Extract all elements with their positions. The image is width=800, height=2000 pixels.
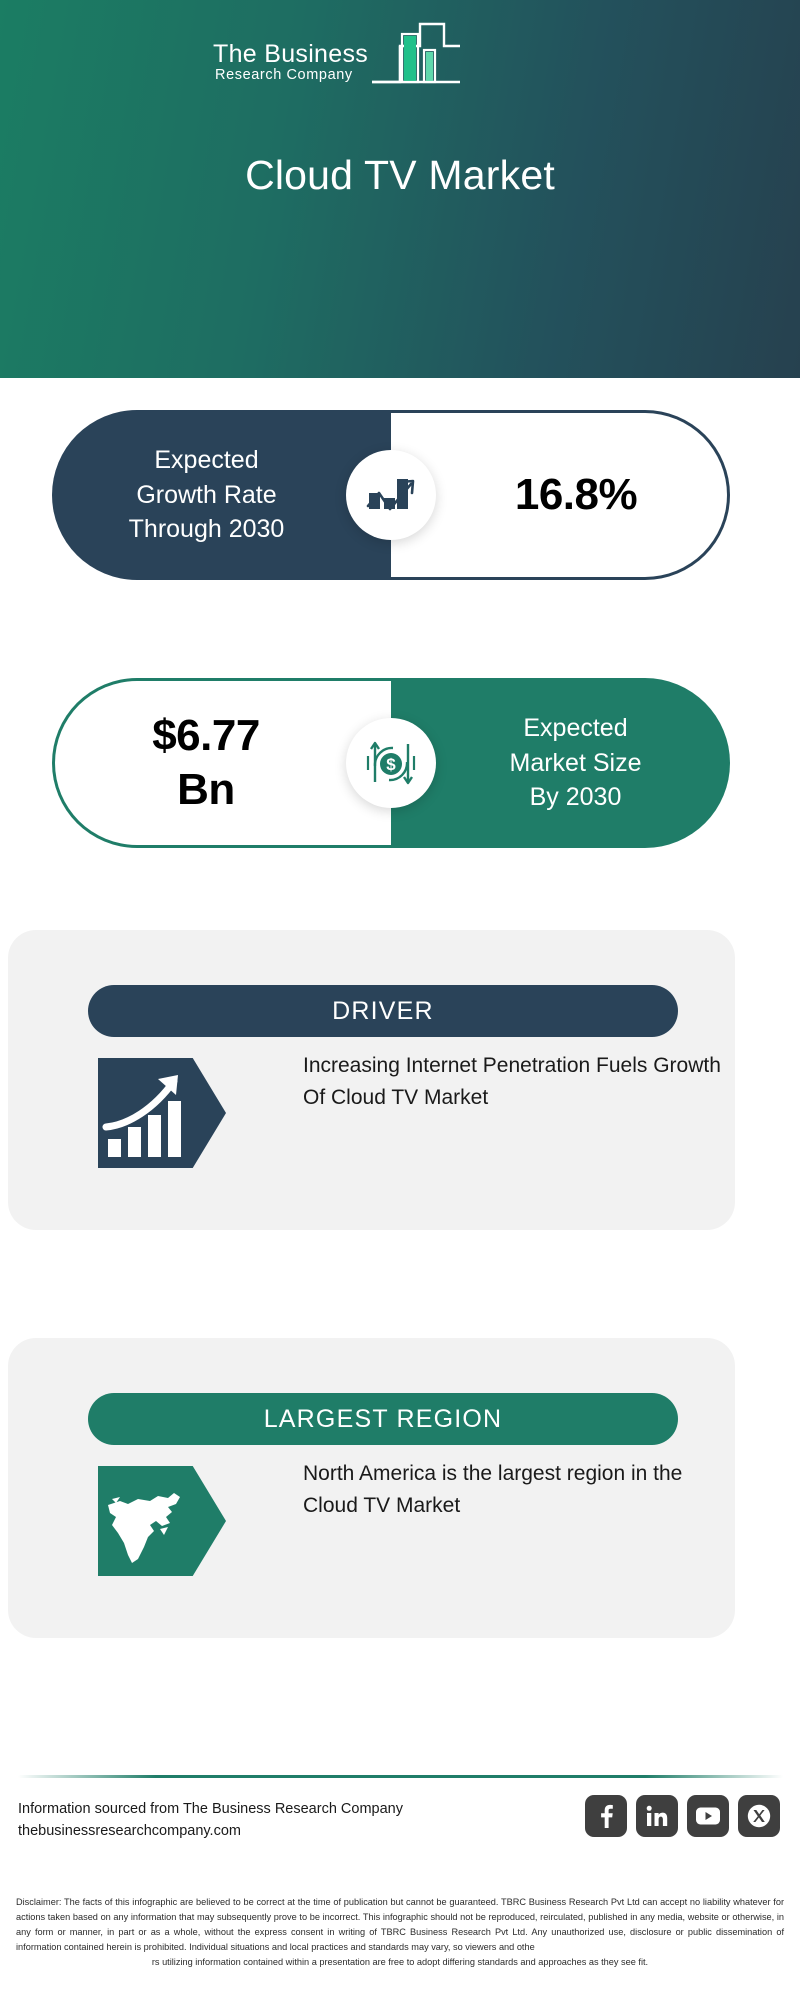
- size-label-line-2: Market Size: [466, 746, 686, 781]
- facebook-icon[interactable]: [585, 1795, 627, 1837]
- social-links: [585, 1795, 780, 1837]
- footer-divider: [18, 1775, 783, 1778]
- size-label-line-1: Expected: [466, 711, 686, 746]
- source-attribution: Information sourced from The Business Re…: [18, 1798, 403, 1843]
- largest-region-heading: LARGEST REGION: [88, 1393, 678, 1445]
- size-label: Expected Market Size By 2030: [436, 711, 686, 815]
- driver-body-text: Increasing Internet Penetration Fuels Gr…: [303, 1050, 723, 1114]
- growth-label-line-1: Expected: [97, 443, 317, 478]
- growth-value-panel: 16.8%: [391, 410, 730, 580]
- north-america-map-icon: [98, 1466, 226, 1576]
- x-twitter-icon[interactable]: [738, 1795, 780, 1837]
- logo-line-1: The Business: [213, 41, 368, 67]
- size-label-panel: Expected Market Size By 2030: [391, 678, 730, 848]
- growth-value: 16.8%: [481, 468, 637, 522]
- stat-card-growth-rate: Expected Growth Rate Through 2030 16.8%: [52, 410, 730, 580]
- dollar-cycle-icon: $: [346, 718, 436, 808]
- rising-bar-chart-icon: [98, 1058, 226, 1168]
- panel-largest-region: LARGEST REGION North America is the larg…: [8, 1338, 735, 1638]
- size-label-line-3: By 2030: [466, 780, 686, 815]
- driver-heading: DRIVER: [88, 985, 678, 1037]
- linkedin-icon[interactable]: [636, 1795, 678, 1837]
- header-banner: The Business Research Company Cloud TV M…: [0, 0, 800, 378]
- growth-label-panel: Expected Growth Rate Through 2030: [52, 410, 391, 580]
- disclaimer-main: Disclaimer: The facts of this infographi…: [16, 1897, 784, 1952]
- disclaimer-last-line: rs utilizing information contained withi…: [16, 1955, 784, 1970]
- youtube-icon[interactable]: [687, 1795, 729, 1837]
- size-value-line-2: Bn: [152, 763, 260, 817]
- growth-chart-arrow-icon: [346, 450, 436, 540]
- size-value-panel: $6.77 Bn: [52, 678, 391, 848]
- growth-label: Expected Growth Rate Through 2030: [97, 443, 347, 547]
- growth-label-line-3: Through 2030: [97, 512, 317, 547]
- growth-label-line-2: Growth Rate: [97, 478, 317, 513]
- logo-line-2: Research Company: [213, 67, 353, 84]
- largest-region-body-text: North America is the largest region in t…: [303, 1458, 723, 1522]
- logo-wordmark: The Business Research Company: [213, 41, 368, 92]
- svg-text:$: $: [386, 755, 396, 774]
- panel-driver: DRIVER Increasing Internet Penetration F…: [8, 930, 735, 1230]
- company-logo: The Business Research Company: [213, 22, 523, 92]
- infographic-page: The Business Research Company Cloud TV M…: [0, 0, 800, 2000]
- page-title: Cloud TV Market: [0, 152, 800, 199]
- disclaimer-text: Disclaimer: The facts of this infographi…: [16, 1895, 784, 1970]
- stat-card-market-size: $6.77 Bn Expected Market Size By 2030 $: [52, 678, 730, 848]
- source-line-1: Information sourced from The Business Re…: [18, 1798, 403, 1820]
- size-value: $6.77 Bn: [152, 709, 294, 816]
- bar-chart-logo-mark: [370, 20, 462, 90]
- source-website[interactable]: thebusinessresearchcompany.com: [18, 1820, 403, 1842]
- size-value-line-1: $6.77: [152, 709, 260, 763]
